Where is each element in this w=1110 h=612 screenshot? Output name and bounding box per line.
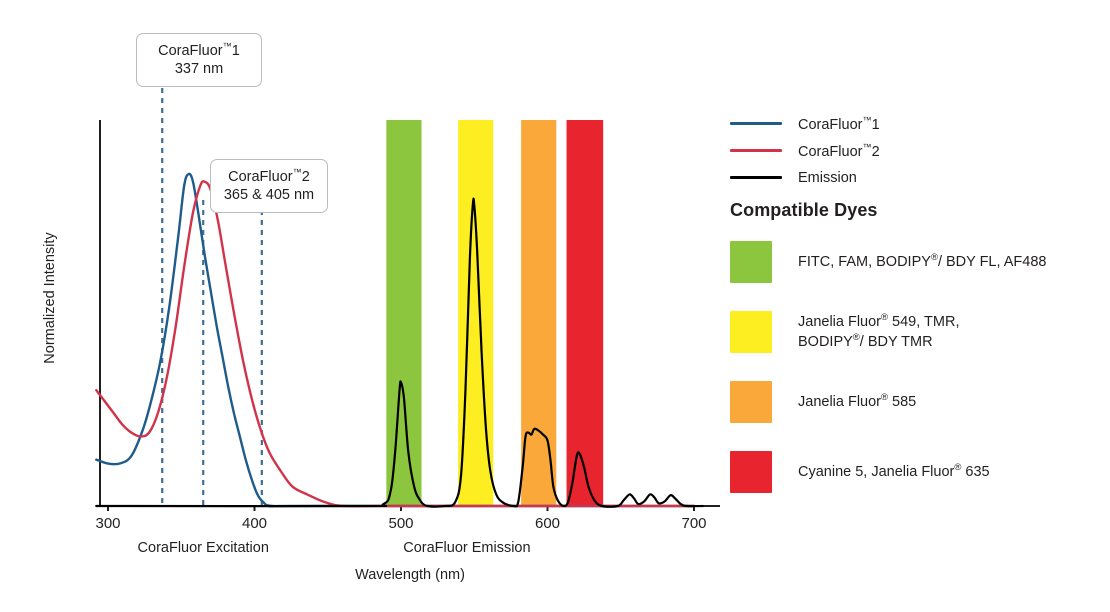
legend-panel: CoraFluor™1CoraFluor™2Emission Compatibl…	[730, 0, 1110, 612]
compatible-dyes-title: Compatible Dyes	[730, 200, 878, 221]
dye-color-swatch	[730, 241, 772, 283]
x-tick-label-300: 300	[78, 515, 138, 532]
caption-excitation: CoraFluor Excitation	[93, 540, 313, 556]
legend-item-label: Emission	[798, 170, 857, 186]
legend-item-2[interactable]: Emission	[730, 164, 1110, 191]
dye-item-1[interactable]: Janelia Fluor® 549, TMR,BODIPY®/ BDY TMR	[730, 306, 1110, 358]
legend-item-label: CoraFluor™1	[798, 115, 880, 133]
legend-item-1[interactable]: CoraFluor™2	[730, 137, 1110, 164]
orange-band	[521, 120, 556, 506]
dye-label: Janelia Fluor® 585	[798, 392, 916, 412]
dye-color-swatch	[730, 311, 772, 353]
green-band	[386, 120, 421, 506]
x-tick-label-600: 600	[518, 515, 578, 532]
x-tick-label-700: 700	[664, 515, 724, 532]
dye-color-swatch	[730, 451, 772, 493]
dye-item-0[interactable]: FITC, FAM, BODIPY®/ BDY FL, AF488	[730, 236, 1110, 288]
callout1-line2: 337 nm	[147, 61, 251, 79]
legend-item-label: CoraFluor™2	[798, 142, 880, 160]
dye-item-3[interactable]: Cyanine 5, Janelia Fluor® 635	[730, 446, 1110, 498]
dye-item-2[interactable]: Janelia Fluor® 585	[730, 376, 1110, 428]
caption-emission: CoraFluor Emission	[357, 540, 577, 556]
spectra-chart: CoraFluor™1 337 nm CoraFluor™2 365 & 405…	[0, 0, 730, 612]
callout-corafluor2: CoraFluor™2 365 & 405 nm	[210, 159, 328, 213]
red-band	[567, 120, 604, 506]
callout2-line1: CoraFluor™2	[221, 167, 317, 187]
compatible-dyes-list: FITC, FAM, BODIPY®/ BDY FL, AF488Janelia…	[730, 236, 1110, 516]
x-tick-label-400: 400	[225, 515, 285, 532]
dye-label: FITC, FAM, BODIPY®/ BDY FL, AF488	[798, 252, 1046, 272]
legend-swatch-line	[730, 122, 782, 125]
callout1-line1: CoraFluor™1	[147, 41, 251, 61]
callout2-line2: 365 & 405 nm	[221, 187, 317, 205]
series-legend: CoraFluor™1CoraFluor™2Emission	[730, 110, 1110, 191]
callout-corafluor1: CoraFluor™1 337 nm	[136, 33, 262, 87]
dye-label: Janelia Fluor® 549, TMR,BODIPY®/ BDY TMR	[798, 312, 959, 352]
dye-label: Cyanine 5, Janelia Fluor® 635	[798, 462, 990, 482]
x-axis-label: Wavelength (nm)	[260, 567, 560, 583]
y-axis-label: Normalized Intensity	[42, 208, 58, 388]
legend-swatch-line	[730, 149, 782, 152]
legend-swatch-line	[730, 176, 782, 179]
dye-color-swatch	[730, 381, 772, 423]
legend-item-0[interactable]: CoraFluor™1	[730, 110, 1110, 137]
x-tick-label-500: 500	[371, 515, 431, 532]
